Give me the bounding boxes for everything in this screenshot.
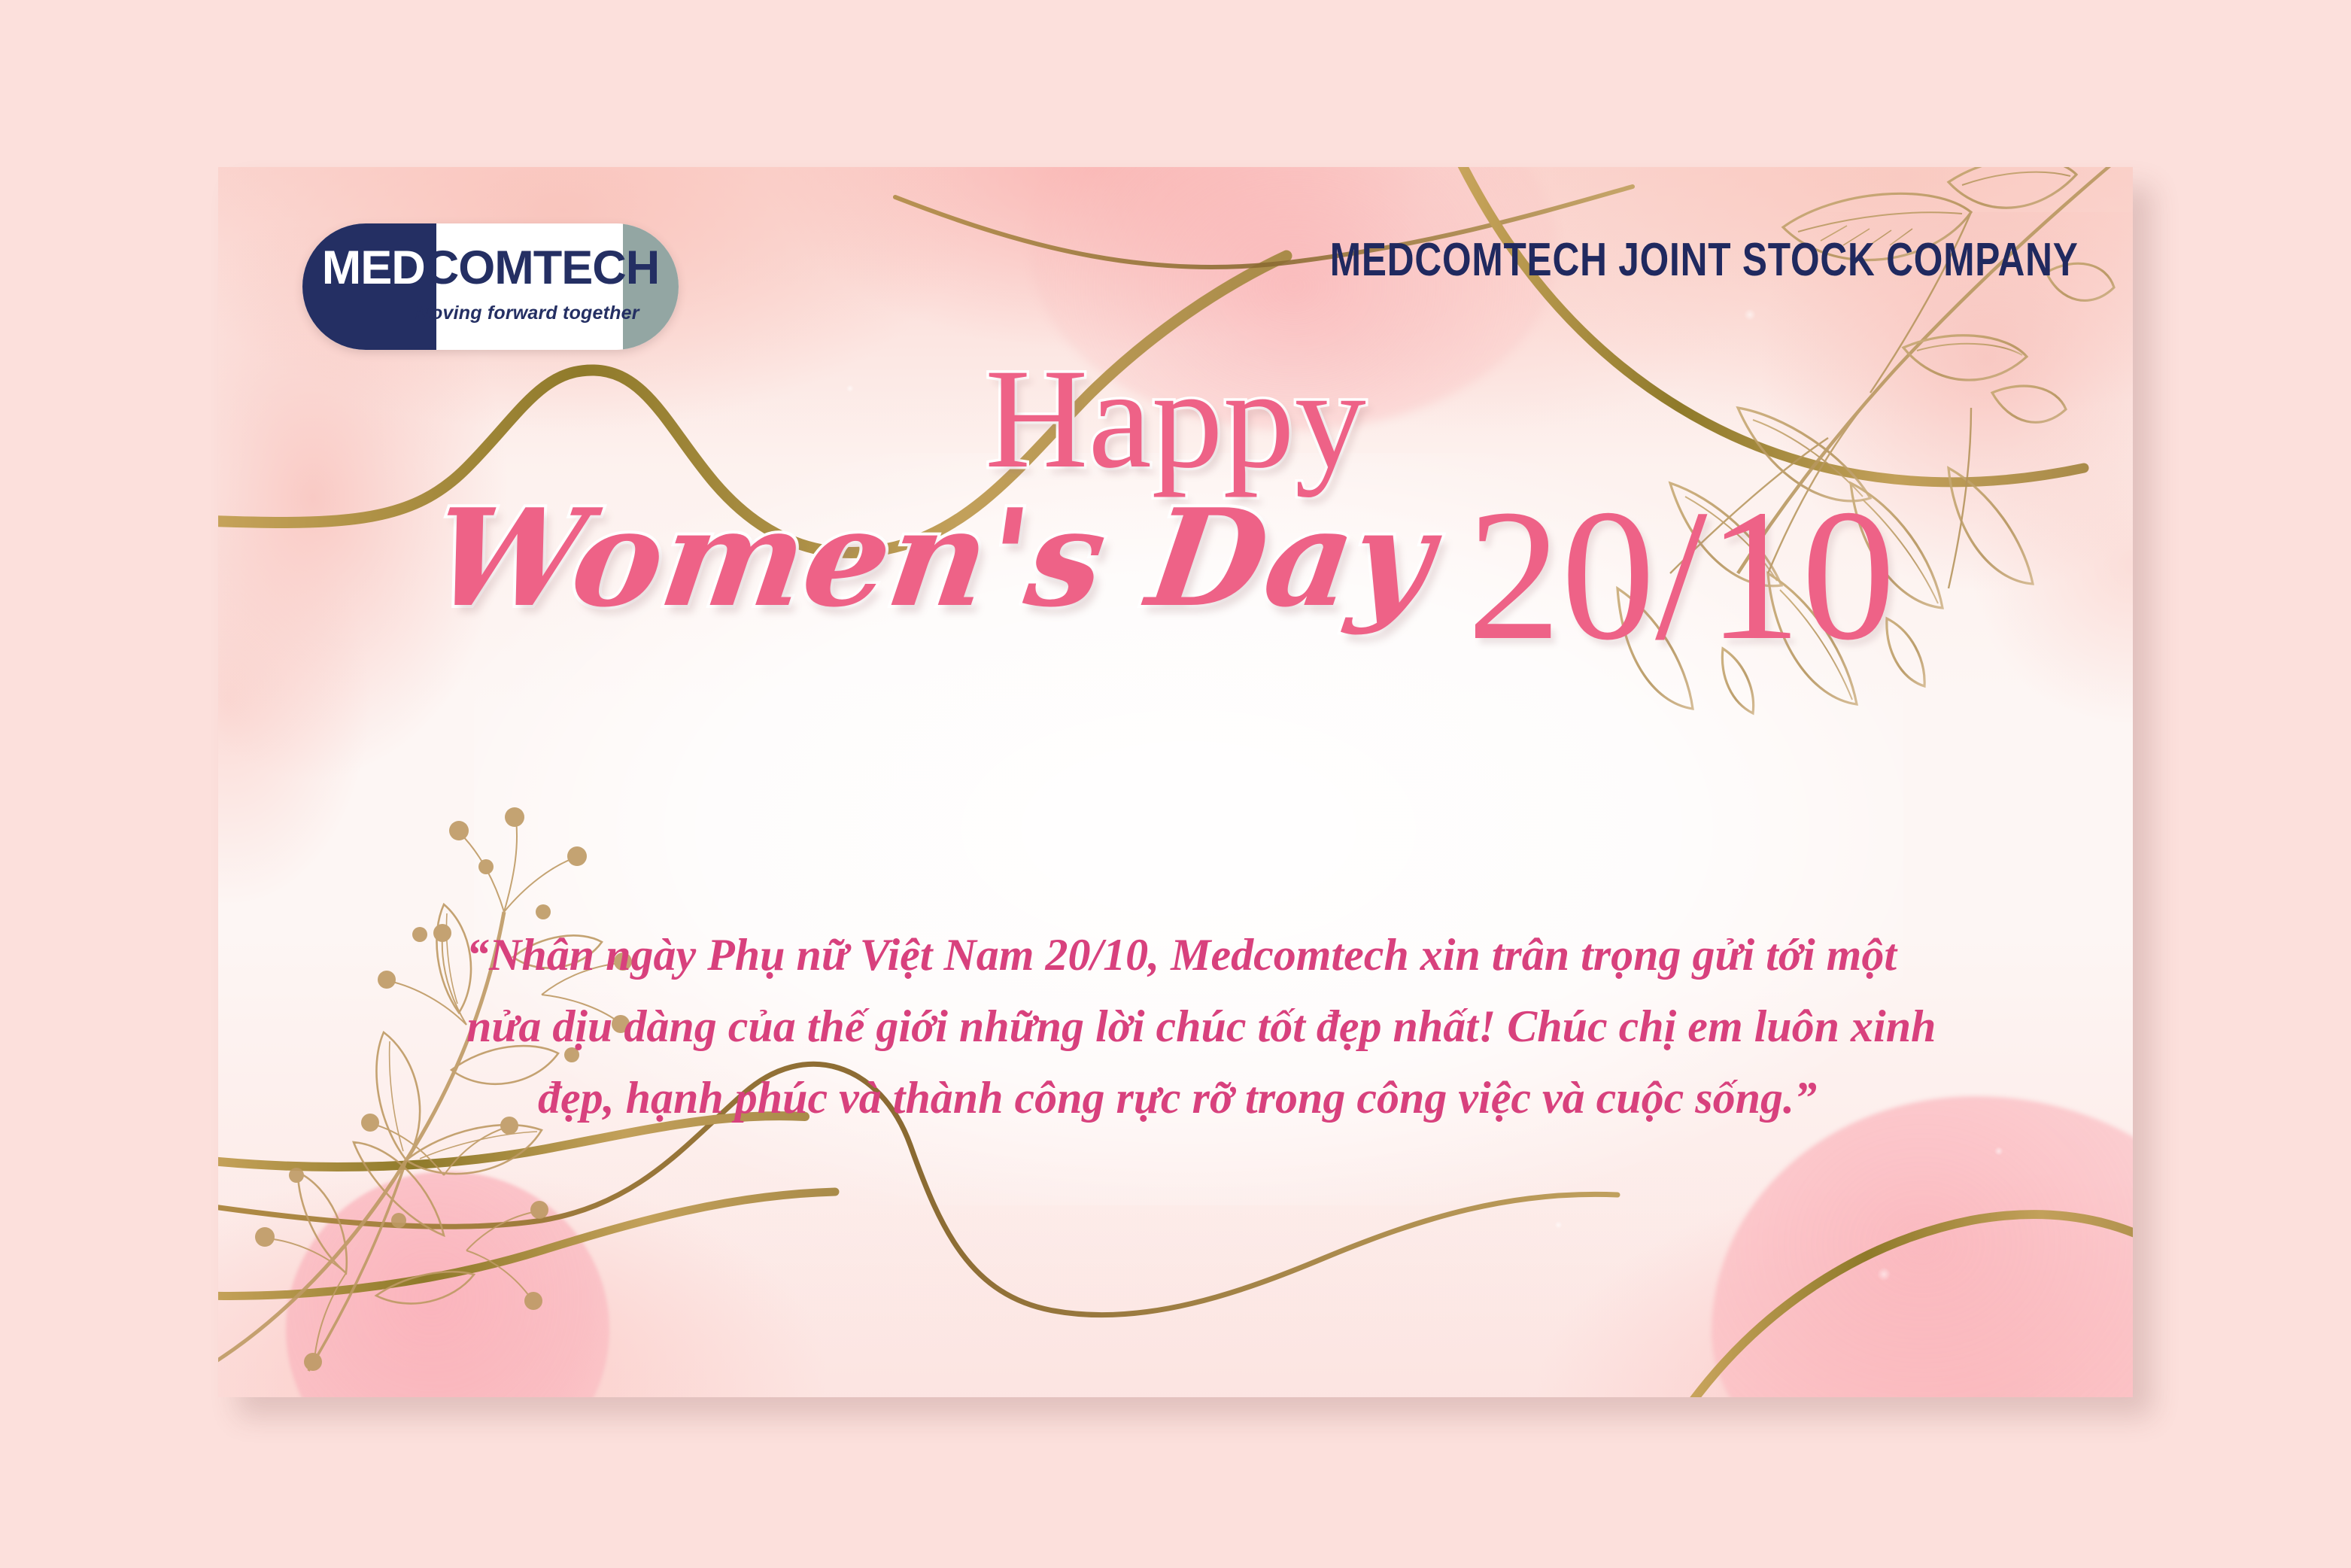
message-line-1: “Nhân ngày Phụ nữ Việt Nam 20/10, Medcom… [466,919,1888,991]
logo-word-comtech: COMTECH [425,242,659,294]
logo-tagline: Moving forward together [415,302,626,324]
logo-wordmark: MEDCOMTECH [302,245,679,292]
headline-row: Women's Day 20/10 [218,468,2133,709]
gold-arc-bottom-right [1693,1214,2133,1397]
headline-womens-day: Women's Day [235,468,1630,649]
company-name: MEDCOMTECH JOINT STOCK COMPANY [1330,233,2079,287]
greeting-message: “Nhân ngày Phụ nữ Việt Nam 20/10, Medcom… [466,919,1888,1133]
message-line-2: nửa dịu dàng của thế giới những lời chúc… [466,991,1888,1062]
pink-watercolor-blob-right [1712,1096,2133,1397]
logo-word-med: MED [322,242,425,294]
medcomtech-logo[interactable]: MEDCOMTECH Moving forward together [302,223,679,350]
gold-wave-bottom-left [218,1116,835,1296]
message-line-3: đẹp, hạnh phúc và thành công rực rỡ tron… [466,1062,1888,1134]
greeting-card: MEDCOMTECH Moving forward together MEDCO… [218,167,2133,1397]
page-canvas: MEDCOMTECH Moving forward together MEDCO… [0,0,2351,1568]
headline-date: 20/10 [1467,482,2084,670]
pink-watercolor-blob-left [286,1171,609,1397]
